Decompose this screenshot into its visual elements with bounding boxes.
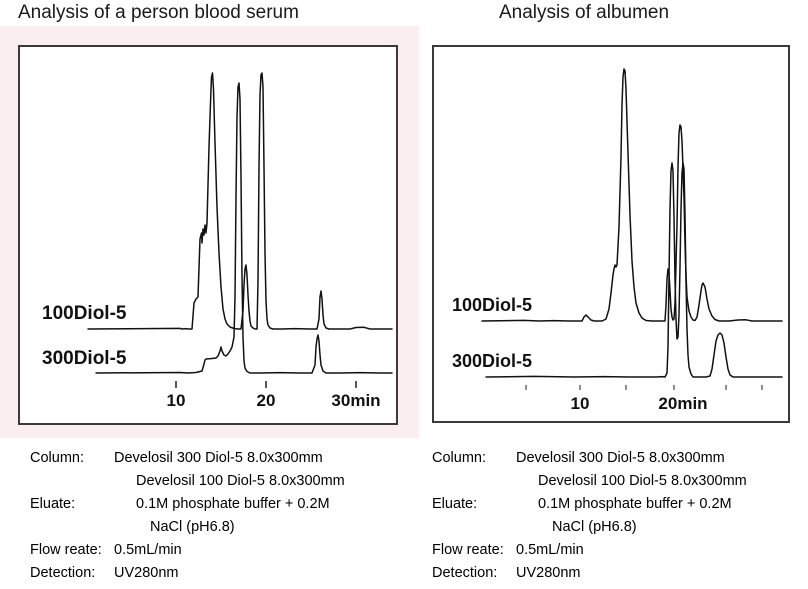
caption-row-eluate: Eluate: 0.1M phosphate buffer + 0.2M [30, 493, 345, 516]
caption-key-flow: Flow reate: [30, 539, 114, 562]
caption-value-column-line2: Develosil 100 Diol-5 8.0x300mm [136, 470, 345, 493]
panel-title-blood-serum: Analysis of a person blood serum [18, 1, 299, 25]
x-axis-ticks-left [176, 381, 356, 388]
trace-300diol5-right [486, 163, 782, 377]
caption-value-flow: 0.5mL/min [114, 539, 182, 562]
chromatogram-svg-left: 100Diol-5 300Diol-5 10 20 30min [20, 47, 396, 423]
caption-row-eluate-2: NaCl (pH6.8) [30, 516, 345, 539]
caption-value-eluate-line2: NaCl (pH6.8) [552, 516, 637, 539]
chromatogram-albumen: 100Diol-5 300Diol-5 10 20min [432, 45, 790, 423]
caption-value-detection: UV280nm [516, 562, 580, 585]
caption-value-column-line1: Develosil 300 Diol-5 8.0x300mm [516, 447, 725, 470]
trace-100diol5-right [482, 69, 782, 321]
caption-key-column: Column: [30, 447, 114, 470]
chromatogram-blood-serum: 100Diol-5 300Diol-5 10 20 30min [18, 45, 398, 425]
figure-root: Analysis of a person blood serum Analysi… [0, 0, 808, 589]
caption-row-eluate: Eluate: 0.1M phosphate buffer + 0.2M [432, 493, 747, 516]
chromatogram-svg-right: 100Diol-5 300Diol-5 10 20min [434, 47, 788, 421]
caption-row-column-2: Develosil 100 Diol-5 8.0x300mm [432, 470, 747, 493]
caption-row-column: Column: Develosil 300 Diol-5 8.0x300mm [432, 447, 747, 470]
caption-value-column-line2: Develosil 100 Diol-5 8.0x300mm [538, 470, 747, 493]
panel-title-albumen: Analysis of albumen [499, 1, 669, 25]
x-tick-label-30min-left: 30min [331, 391, 380, 410]
x-tick-label-20-left: 20 [257, 391, 276, 410]
caption-key-detection: Detection: [30, 562, 114, 585]
caption-value-column-line1: Develosil 300 Diol-5 8.0x300mm [114, 447, 323, 470]
caption-key-eluate: Eluate: [432, 493, 516, 516]
caption-key-detection: Detection: [432, 562, 516, 585]
x-tick-label-10-right: 10 [571, 394, 590, 413]
caption-value-eluate-line2: NaCl (pH6.8) [150, 516, 235, 539]
x-axis-ticks-right [526, 385, 762, 390]
x-tick-label-10-left: 10 [167, 391, 186, 410]
caption-value-flow: 0.5mL/min [516, 539, 584, 562]
caption-row-column: Column: Develosil 300 Diol-5 8.0x300mm [30, 447, 345, 470]
caption-key-column: Column: [432, 447, 516, 470]
caption-key-flow: Flow reate: [432, 539, 516, 562]
x-tick-label-20min-right: 20min [658, 394, 707, 413]
caption-row-flow: Flow reate: 0.5mL/min [432, 539, 747, 562]
caption-value-detection: UV280nm [114, 562, 178, 585]
caption-row-flow: Flow reate: 0.5mL/min [30, 539, 345, 562]
trace-label-300diol5-left: 300Diol-5 [42, 348, 127, 369]
caption-row-detection: Detection: UV280nm [30, 562, 345, 585]
caption-row-eluate-2: NaCl (pH6.8) [432, 516, 747, 539]
caption-row-column-2: Develosil 100 Diol-5 8.0x300mm [30, 470, 345, 493]
caption-value-eluate-line1: 0.1M phosphate buffer + 0.2M [114, 493, 330, 516]
trace-label-100diol5-left: 100Diol-5 [42, 303, 127, 324]
caption-albumen: Column: Develosil 300 Diol-5 8.0x300mm D… [432, 447, 747, 585]
caption-row-detection: Detection: UV280nm [432, 562, 747, 585]
trace-label-100diol5-right: 100Diol-5 [452, 295, 532, 315]
caption-key-eluate: Eluate: [30, 493, 114, 516]
caption-value-eluate-line1: 0.1M phosphate buffer + 0.2M [516, 493, 732, 516]
trace-label-300diol5-right: 300Diol-5 [452, 351, 532, 371]
caption-blood-serum: Column: Develosil 300 Diol-5 8.0x300mm D… [30, 447, 345, 585]
